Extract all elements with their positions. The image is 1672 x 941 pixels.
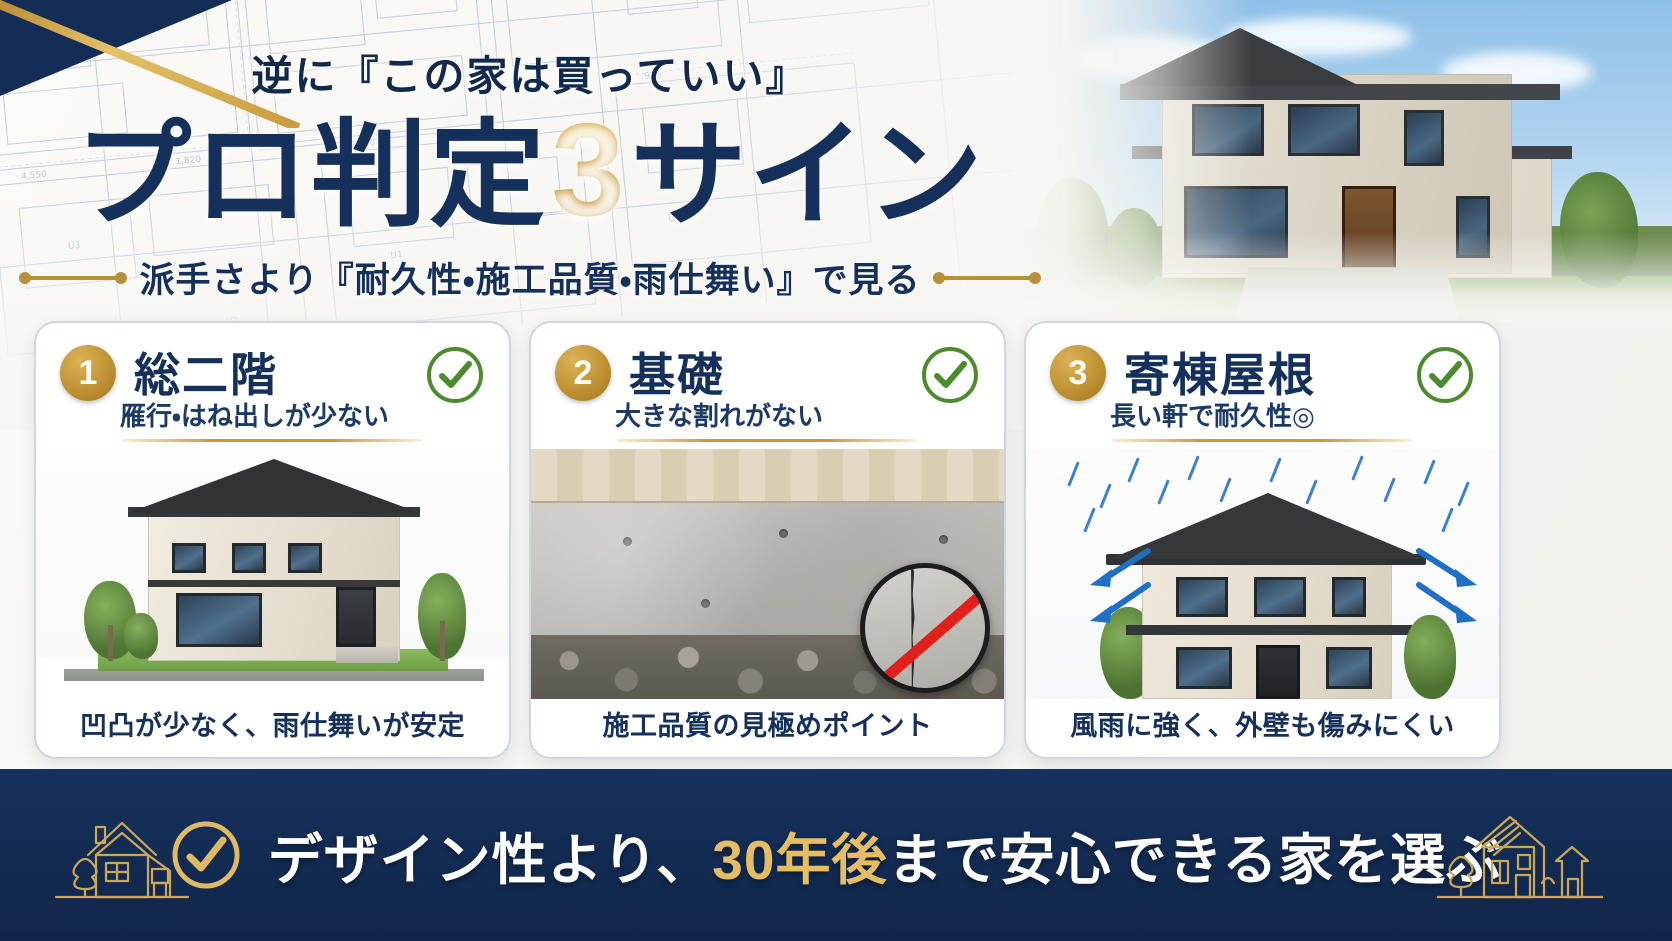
sign-card-2[interactable]: 2 基礎 大きな割れがない [529,321,1006,759]
sign-card-list: 1 総二階 雁行・はね出しが少ない [34,321,1501,759]
infographic-root: 1,8202,730 3,640910 1,3652,275 4,5501,82… [0,0,1672,941]
card-2-divider [617,439,917,442]
house-with-tree-outline-icon [52,803,192,907]
banner-text-part2: まで安心できる家を選ぶ [887,829,1502,891]
sign-card-3[interactable]: 3 寄棟屋根 長い軒で耐久性◎ [1024,321,1501,759]
green-check-circle-icon [425,345,485,405]
card-2-media [531,449,1006,699]
crack-magnifier-icon [860,563,990,693]
card-2-number-badge: 2 [555,345,611,401]
card-3-caption: 風雨に強く、外壁も傷みにくい [1026,704,1499,743]
card-2-header: 2 基礎 大きな割れがない [531,323,1004,425]
card-3-divider [1112,439,1412,442]
sign-card-1[interactable]: 1 総二階 雁行・はね出しが少ない [34,321,511,759]
page-title-suffix: サイン [631,110,985,240]
rain-runoff-arrow-right [1411,545,1485,625]
card-1-header: 1 総二階 雁行・はね出しが少ない [36,323,509,425]
hero-kicker: 逆に『この家は買っていい』 [0,42,1060,102]
house-with-tree-and-shed-outline-icon [1434,803,1606,907]
card-1-caption: 凹凸が少なく、雨仕舞いが安定 [36,704,509,743]
card-3-subtitle: 長い軒で耐久性◎ [1110,396,1315,433]
hero-subline: 派手さより『耐久性・施工品質・雨仕舞い』で見る [0,252,1060,303]
banner-text-part1: デザイン性より、 [268,829,713,891]
card-1-divider [122,439,422,442]
banner-text-highlight: 30年後 [712,829,887,891]
card-1-subtitle: 雁行・はね出しが少ない [120,396,389,433]
hero-subline-text: 派手さより『耐久性・施工品質・雨仕舞い』で見る [139,252,920,303]
page-title-number: 3 [547,96,630,243]
card-2-caption: 施工品質の見極めポイント [531,704,1004,743]
card-1-number-badge: 1 [60,345,116,401]
green-check-circle-icon [1415,345,1475,405]
card-1-media [36,449,511,699]
banner-text: デザイン性より、30年後まで安心できる家を選ぶ [268,815,1503,895]
page-title: プロ判定3サイン [0,96,1060,244]
left-rule-decoration [25,276,121,280]
bottom-banner: デザイン性より、30年後まで安心できる家を選ぶ [0,769,1672,941]
rain-runoff-arrow-left [1082,545,1156,625]
page-title-prefix: プロ判定 [75,110,547,240]
hero-house-photo [1012,0,1672,322]
right-rule-decoration [939,276,1035,280]
card-2-subtitle: 大きな割れがない [615,396,823,433]
card-3-header: 3 寄棟屋根 長い軒で耐久性◎ [1026,323,1499,425]
card-3-media [1026,449,1501,699]
card-3-number-badge: 3 [1050,345,1106,401]
green-check-circle-icon [920,345,980,405]
